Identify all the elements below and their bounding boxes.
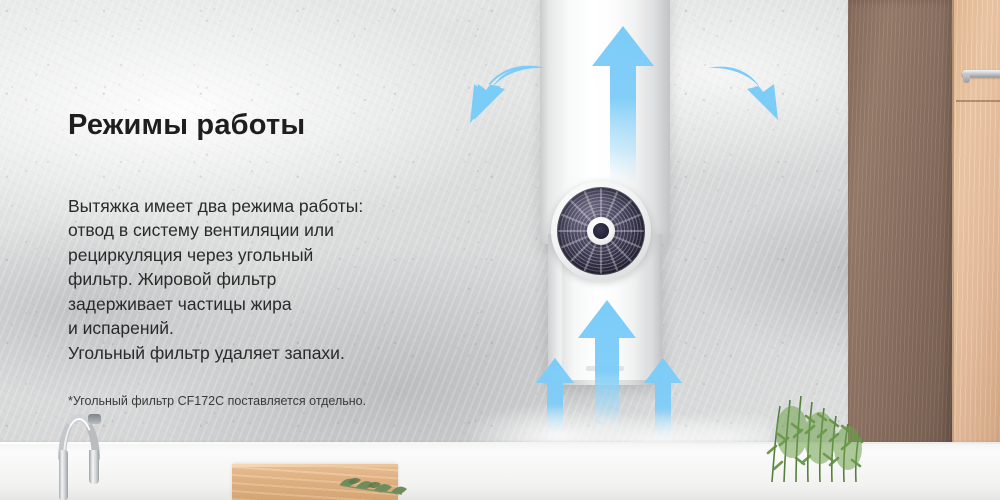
body-text: Вытяжка имеет два режима работы: отвод в… bbox=[68, 142, 468, 366]
airflow-arrow-intake-right bbox=[644, 358, 682, 442]
fan-center-hub bbox=[587, 217, 615, 245]
fan-hub-core bbox=[593, 223, 609, 239]
copy-block: Режимы работы Вытяжка имеет два режима р… bbox=[68, 110, 468, 409]
page-title: Режимы работы bbox=[68, 110, 468, 142]
cabinet-handle-stem bbox=[963, 74, 970, 83]
airflow-arrow-intake-left bbox=[536, 358, 574, 442]
cabinet-seam bbox=[952, 0, 954, 500]
airflow-arrow-exhaust-up-main bbox=[592, 26, 654, 186]
airflow-arrow-intake-center bbox=[578, 300, 636, 432]
cabinet-groove bbox=[956, 100, 1000, 102]
product-banner: Режимы работы Вытяжка имеет два режима р… bbox=[0, 0, 1000, 500]
faucet-spout bbox=[89, 450, 99, 484]
faucet-stem bbox=[59, 450, 68, 500]
potted-plant bbox=[762, 386, 874, 482]
grease-filter-fan-assembly bbox=[551, 181, 651, 281]
faucet-spout-tip bbox=[88, 414, 101, 424]
airflow-arrow-recirculation-right bbox=[706, 62, 782, 124]
herb-sprig bbox=[338, 466, 428, 496]
kitchen-faucet bbox=[54, 414, 106, 500]
footnote-text: *Угольный фильтр CF172C поставляется отд… bbox=[68, 365, 468, 409]
airflow-arrow-recirculation-left bbox=[470, 62, 546, 124]
